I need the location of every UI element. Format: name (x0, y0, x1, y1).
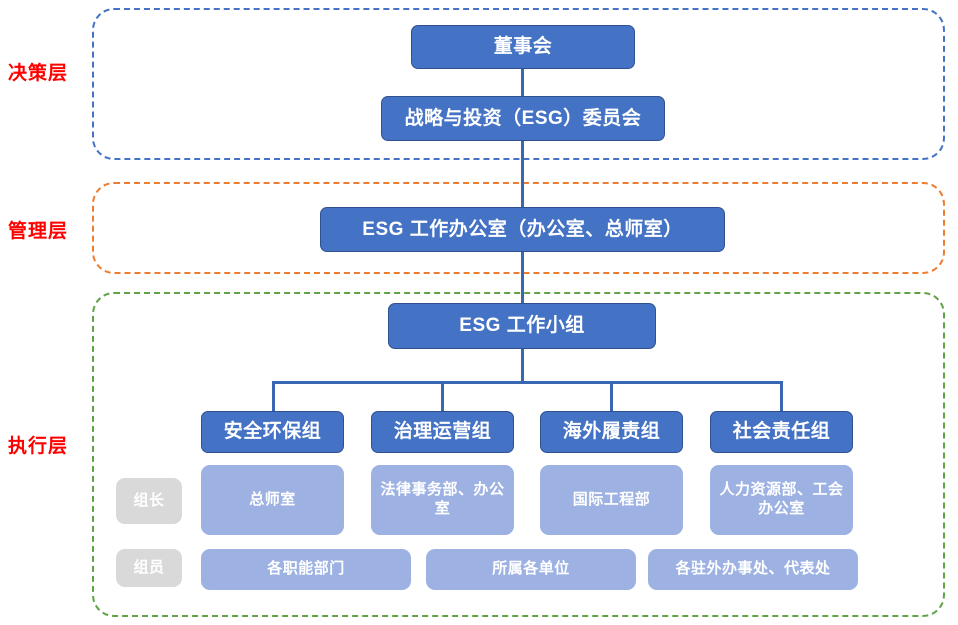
group-header-1[interactable]: 安全环保组 (201, 411, 344, 453)
group-member-3[interactable]: 各驻外办事处、代表处 (648, 549, 858, 590)
row-label-member: 组员 (116, 549, 182, 587)
row-label-leader: 组长 (116, 478, 182, 524)
connector-drop-group-1 (272, 381, 275, 412)
group-leader-3[interactable]: 国际工程部 (540, 465, 683, 535)
group-member-1[interactable]: 各职能部门 (201, 549, 411, 590)
node-esg-office[interactable]: ESG 工作办公室（办公室、总师室） (320, 207, 725, 252)
connector-drop-group-3 (610, 381, 613, 412)
org-chart-canvas: 决策层 管理层 执行层 董事会 战略与投资（ESG）委员会 ESG 工作办公室（… (0, 0, 958, 625)
connector-board-to-committee (521, 68, 524, 98)
layer-label-management: 管理层 (8, 216, 68, 243)
node-esg-working-group[interactable]: ESG 工作小组 (388, 303, 656, 349)
group-leader-1[interactable]: 总师室 (201, 465, 344, 535)
group-member-2[interactable]: 所属各单位 (426, 549, 636, 590)
group-leader-4[interactable]: 人力资源部、工会办公室 (710, 465, 853, 535)
connector-office-to-working-group (521, 251, 524, 305)
group-header-3[interactable]: 海外履责组 (540, 411, 683, 453)
connector-group-bus (272, 381, 783, 384)
connector-committee-to-office (521, 140, 524, 210)
connector-working-group-stem (521, 348, 524, 382)
group-header-4[interactable]: 社会责任组 (710, 411, 853, 453)
node-board-of-directors[interactable]: 董事会 (411, 25, 635, 69)
layer-label-decision: 决策层 (8, 58, 68, 85)
connector-drop-group-2 (441, 381, 444, 412)
node-esg-committee[interactable]: 战略与投资（ESG）委员会 (381, 96, 665, 141)
layer-label-execution: 执行层 (8, 431, 68, 458)
group-header-2[interactable]: 治理运营组 (371, 411, 514, 453)
connector-drop-group-4 (780, 381, 783, 412)
group-leader-2[interactable]: 法律事务部、办公室 (371, 465, 514, 535)
